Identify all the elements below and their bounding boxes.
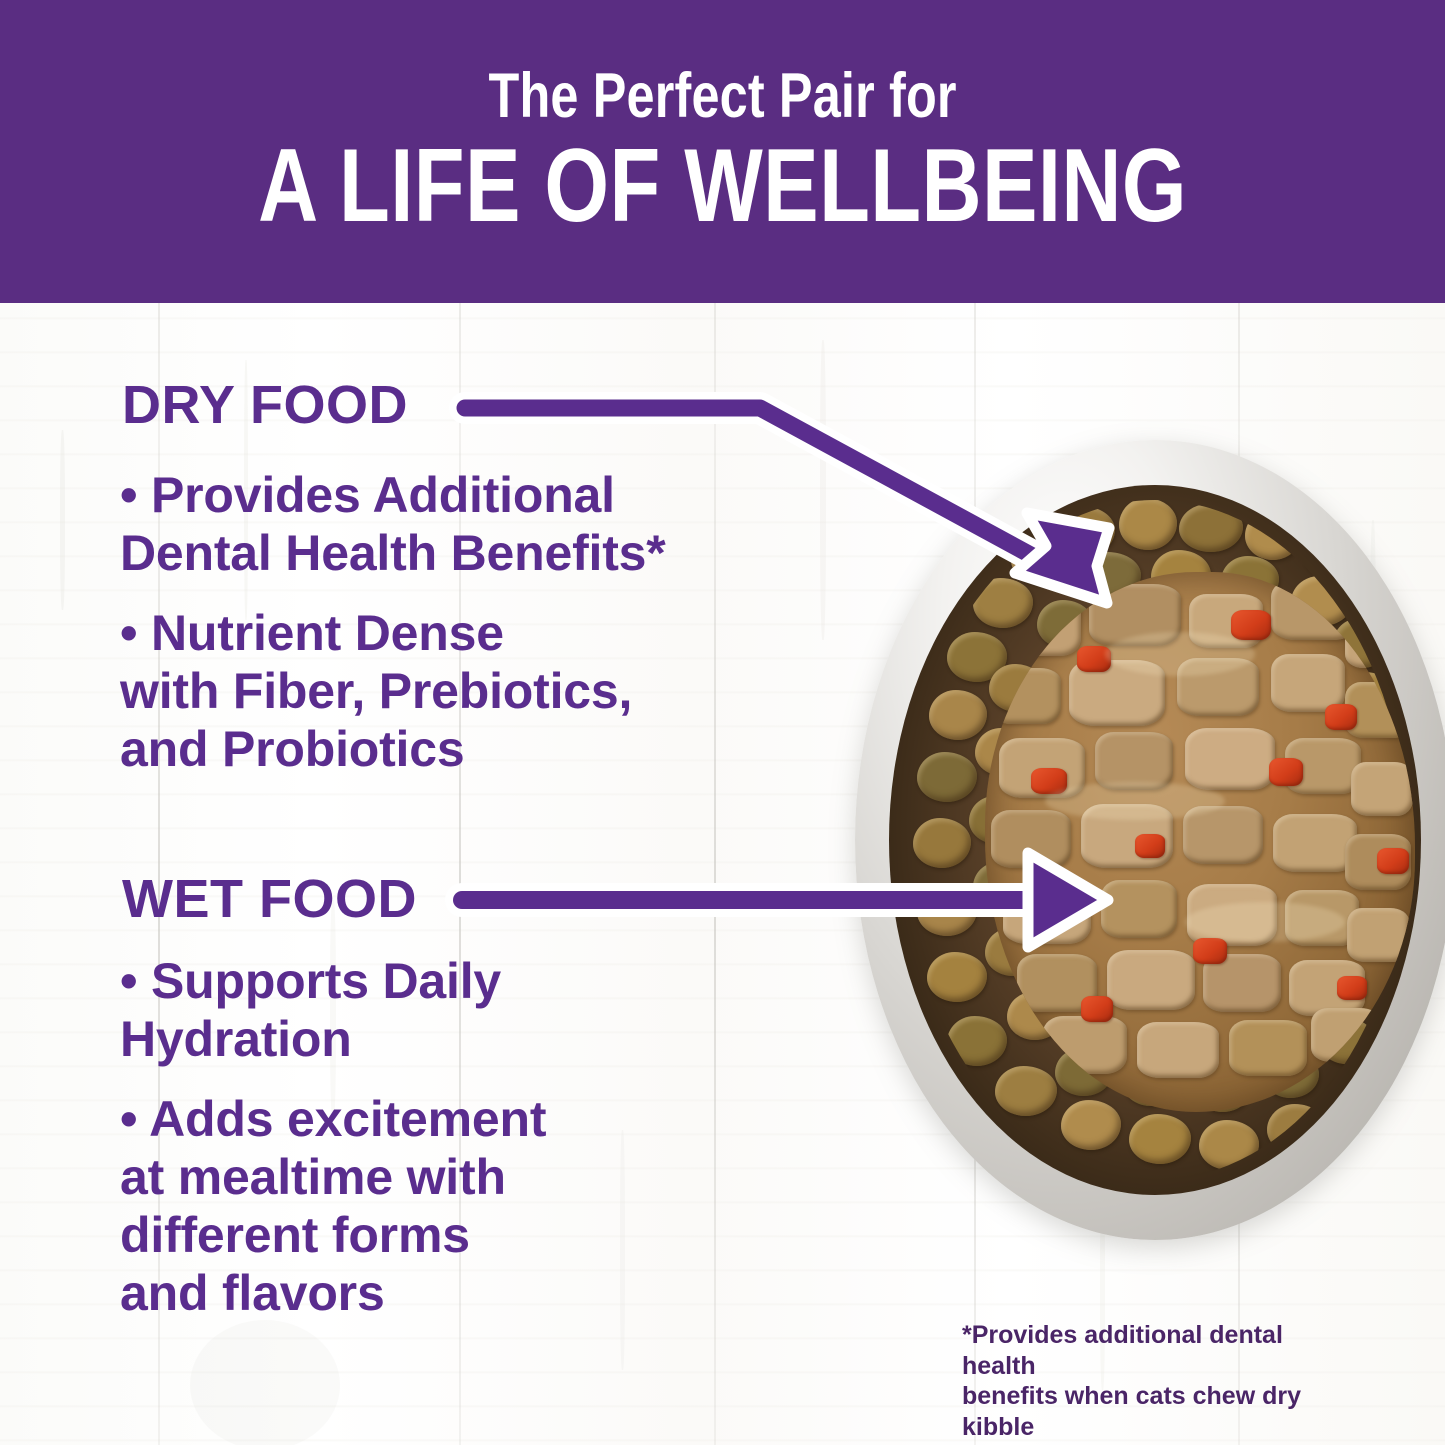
header-title: A LIFE OF WELLBEING bbox=[258, 134, 1187, 238]
wet-food-label: WET FOOD bbox=[122, 872, 417, 926]
pet-food-bowl-photo bbox=[855, 440, 1445, 1270]
dry-food-bullet-2: • Nutrient Dense with Fiber, Prebiotics,… bbox=[120, 604, 780, 778]
wet-food-bullet-1: • Supports Daily Hydration bbox=[120, 952, 780, 1068]
dry-food-bullet-1: • Provides Additional Dental Health Bene… bbox=[120, 466, 780, 582]
wet-food-bullet-2: • Adds excitement at mealtime with diffe… bbox=[120, 1090, 780, 1322]
dry-food-label: DRY FOOD bbox=[122, 378, 408, 432]
wood-knot bbox=[190, 1320, 340, 1445]
infographic-root: The Perfect Pair for A LIFE OF WELLBEING bbox=[0, 0, 1445, 1445]
wood-grain bbox=[820, 340, 826, 640]
footnote-disclaimer: *Provides additional dental health benef… bbox=[962, 1320, 1362, 1442]
header-banner: The Perfect Pair for A LIFE OF WELLBEING bbox=[0, 0, 1445, 303]
wet-food-pool bbox=[985, 572, 1415, 1112]
header-subtitle: The Perfect Pair for bbox=[488, 65, 956, 128]
wood-grain bbox=[60, 430, 65, 610]
